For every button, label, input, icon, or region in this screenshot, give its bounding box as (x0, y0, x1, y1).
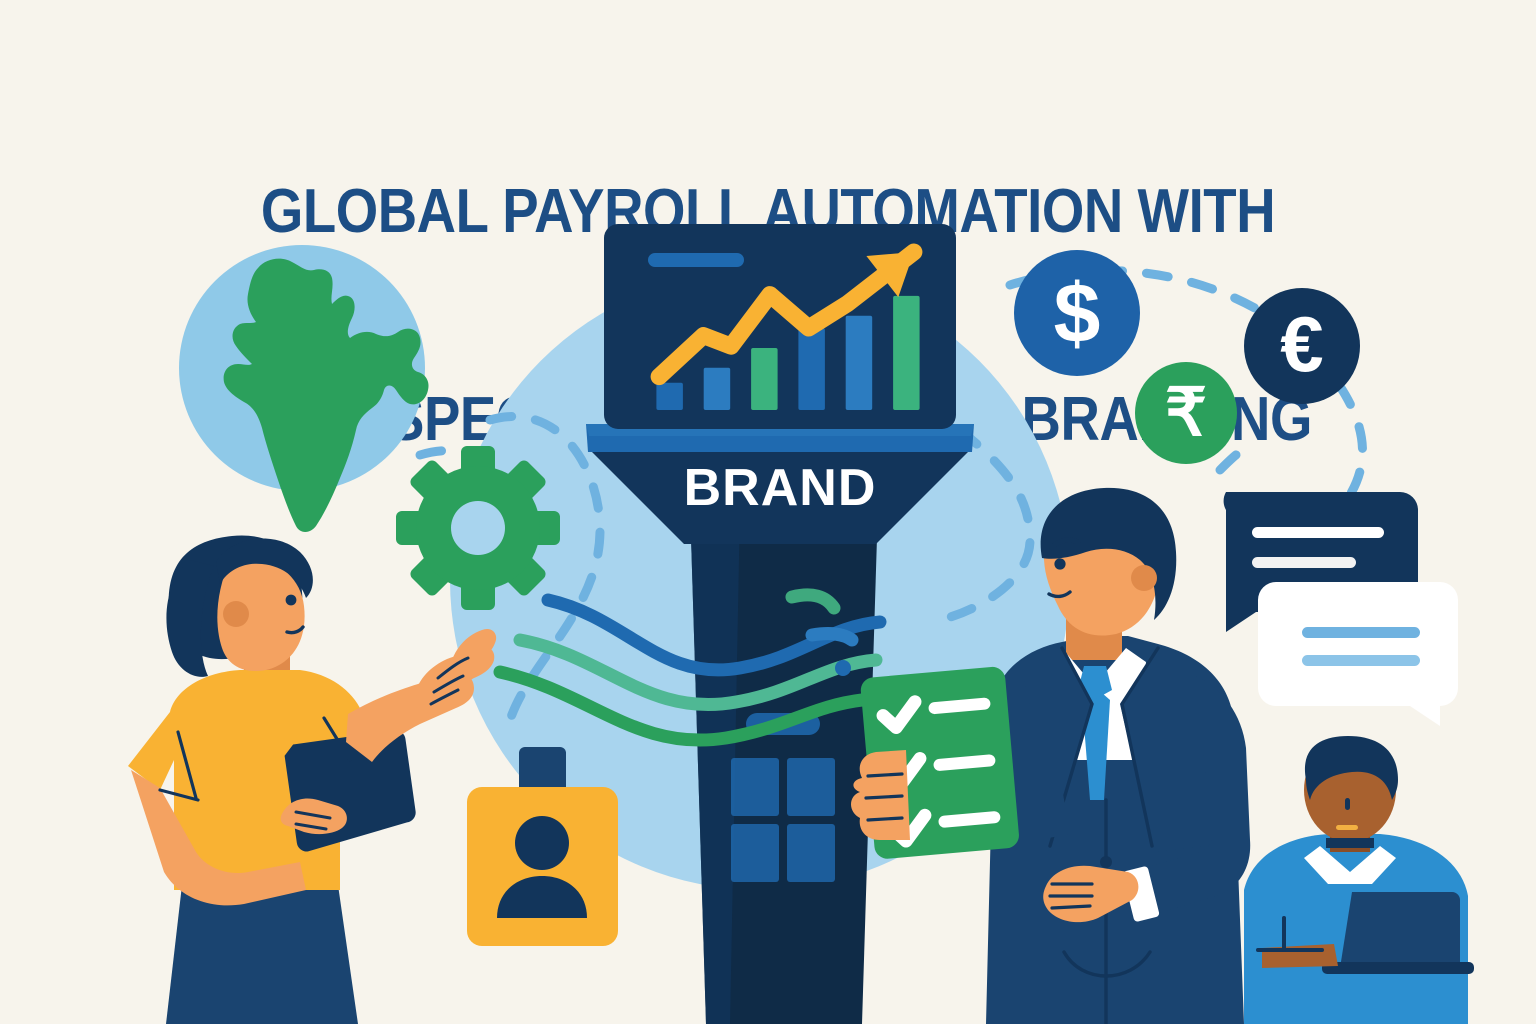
man-hand-line (868, 774, 902, 776)
man-eye (1054, 558, 1065, 569)
man-hand-line (866, 796, 902, 798)
man-jacket-button (1100, 856, 1112, 868)
man-hand-line (868, 818, 902, 820)
man-ear (1131, 565, 1157, 591)
infographic-canvas: GLOBAL PAYROLL AUTOMATION WITH INDIA-SPE… (0, 0, 1536, 1024)
businessman (0, 0, 1536, 1024)
man-hand-line (1052, 906, 1090, 908)
